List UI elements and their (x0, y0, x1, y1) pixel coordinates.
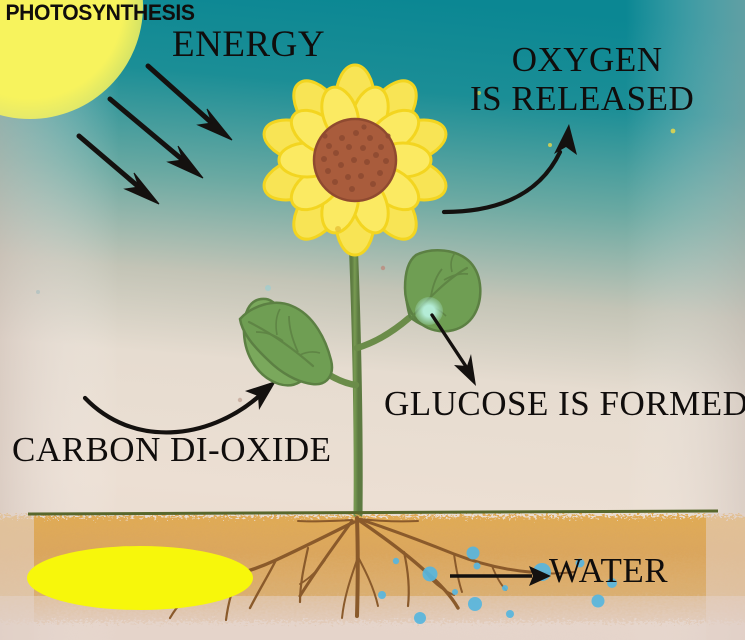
label-oxygen-released: OXYGEN IS RELEASED (480, 42, 694, 118)
label-glucose-formed: GLUCOSE IS FORMED (384, 386, 745, 423)
label-energy: ENERGY (172, 26, 325, 65)
photosynthesis-badge-label: PHOTOSYNTHESIS (4, 0, 196, 26)
glucose-marker-icon (415, 297, 443, 325)
photosynthesis-badge (27, 546, 253, 610)
label-oxygen-line2: IS RELEASED (470, 81, 694, 118)
photosynthesis-diagram: ENERGY OXYGEN IS RELEASED GLUCOSE IS FOR… (0, 0, 745, 640)
leaf-right (405, 250, 480, 331)
label-carbon-dioxide: CARBON DI-OXIDE (12, 432, 332, 469)
label-water: WATER (549, 553, 668, 590)
label-oxygen-line1: OXYGEN (512, 40, 663, 79)
